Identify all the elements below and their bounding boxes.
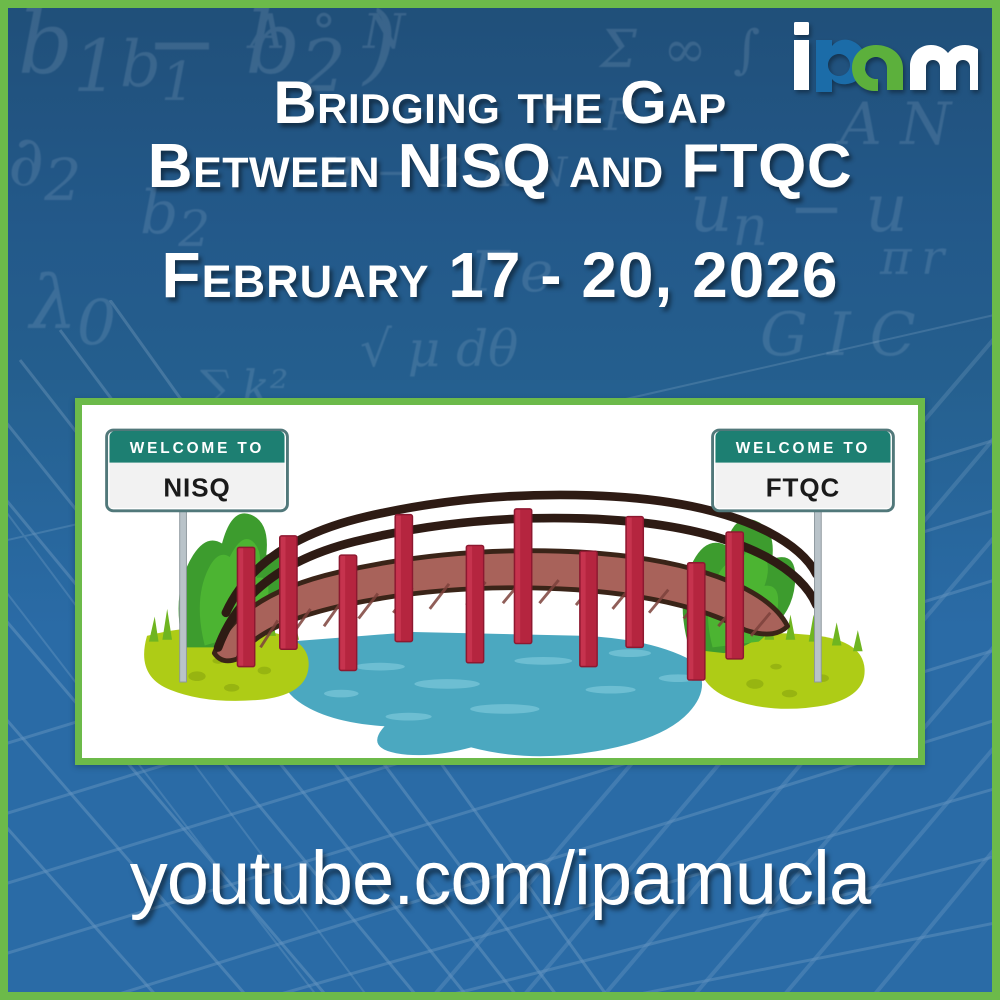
- bridge-illustration: WELCOME TO NISQ WELCOME TO FTQC: [75, 398, 925, 765]
- page-title: Bridging the Gap Between NISQ and FTQC: [0, 72, 1000, 198]
- title-line-2: Between NISQ and FTQC: [0, 135, 1000, 198]
- title-line-1: Bridging the Gap: [0, 72, 1000, 133]
- poster-canvas: b1 − b2 ) b1 A ° N ∂2 b2 H − G A N Γ e Σ…: [0, 0, 1000, 1000]
- youtube-url[interactable]: youtube.com/ipamucla: [0, 835, 1000, 922]
- svg-text:NISQ: NISQ: [163, 472, 230, 502]
- svg-text:FTQC: FTQC: [766, 472, 841, 502]
- event-date: February 17 - 20, 2026: [0, 238, 1000, 312]
- svg-text:WELCOME TO: WELCOME TO: [736, 440, 870, 457]
- svg-text:WELCOME TO: WELCOME TO: [130, 440, 264, 457]
